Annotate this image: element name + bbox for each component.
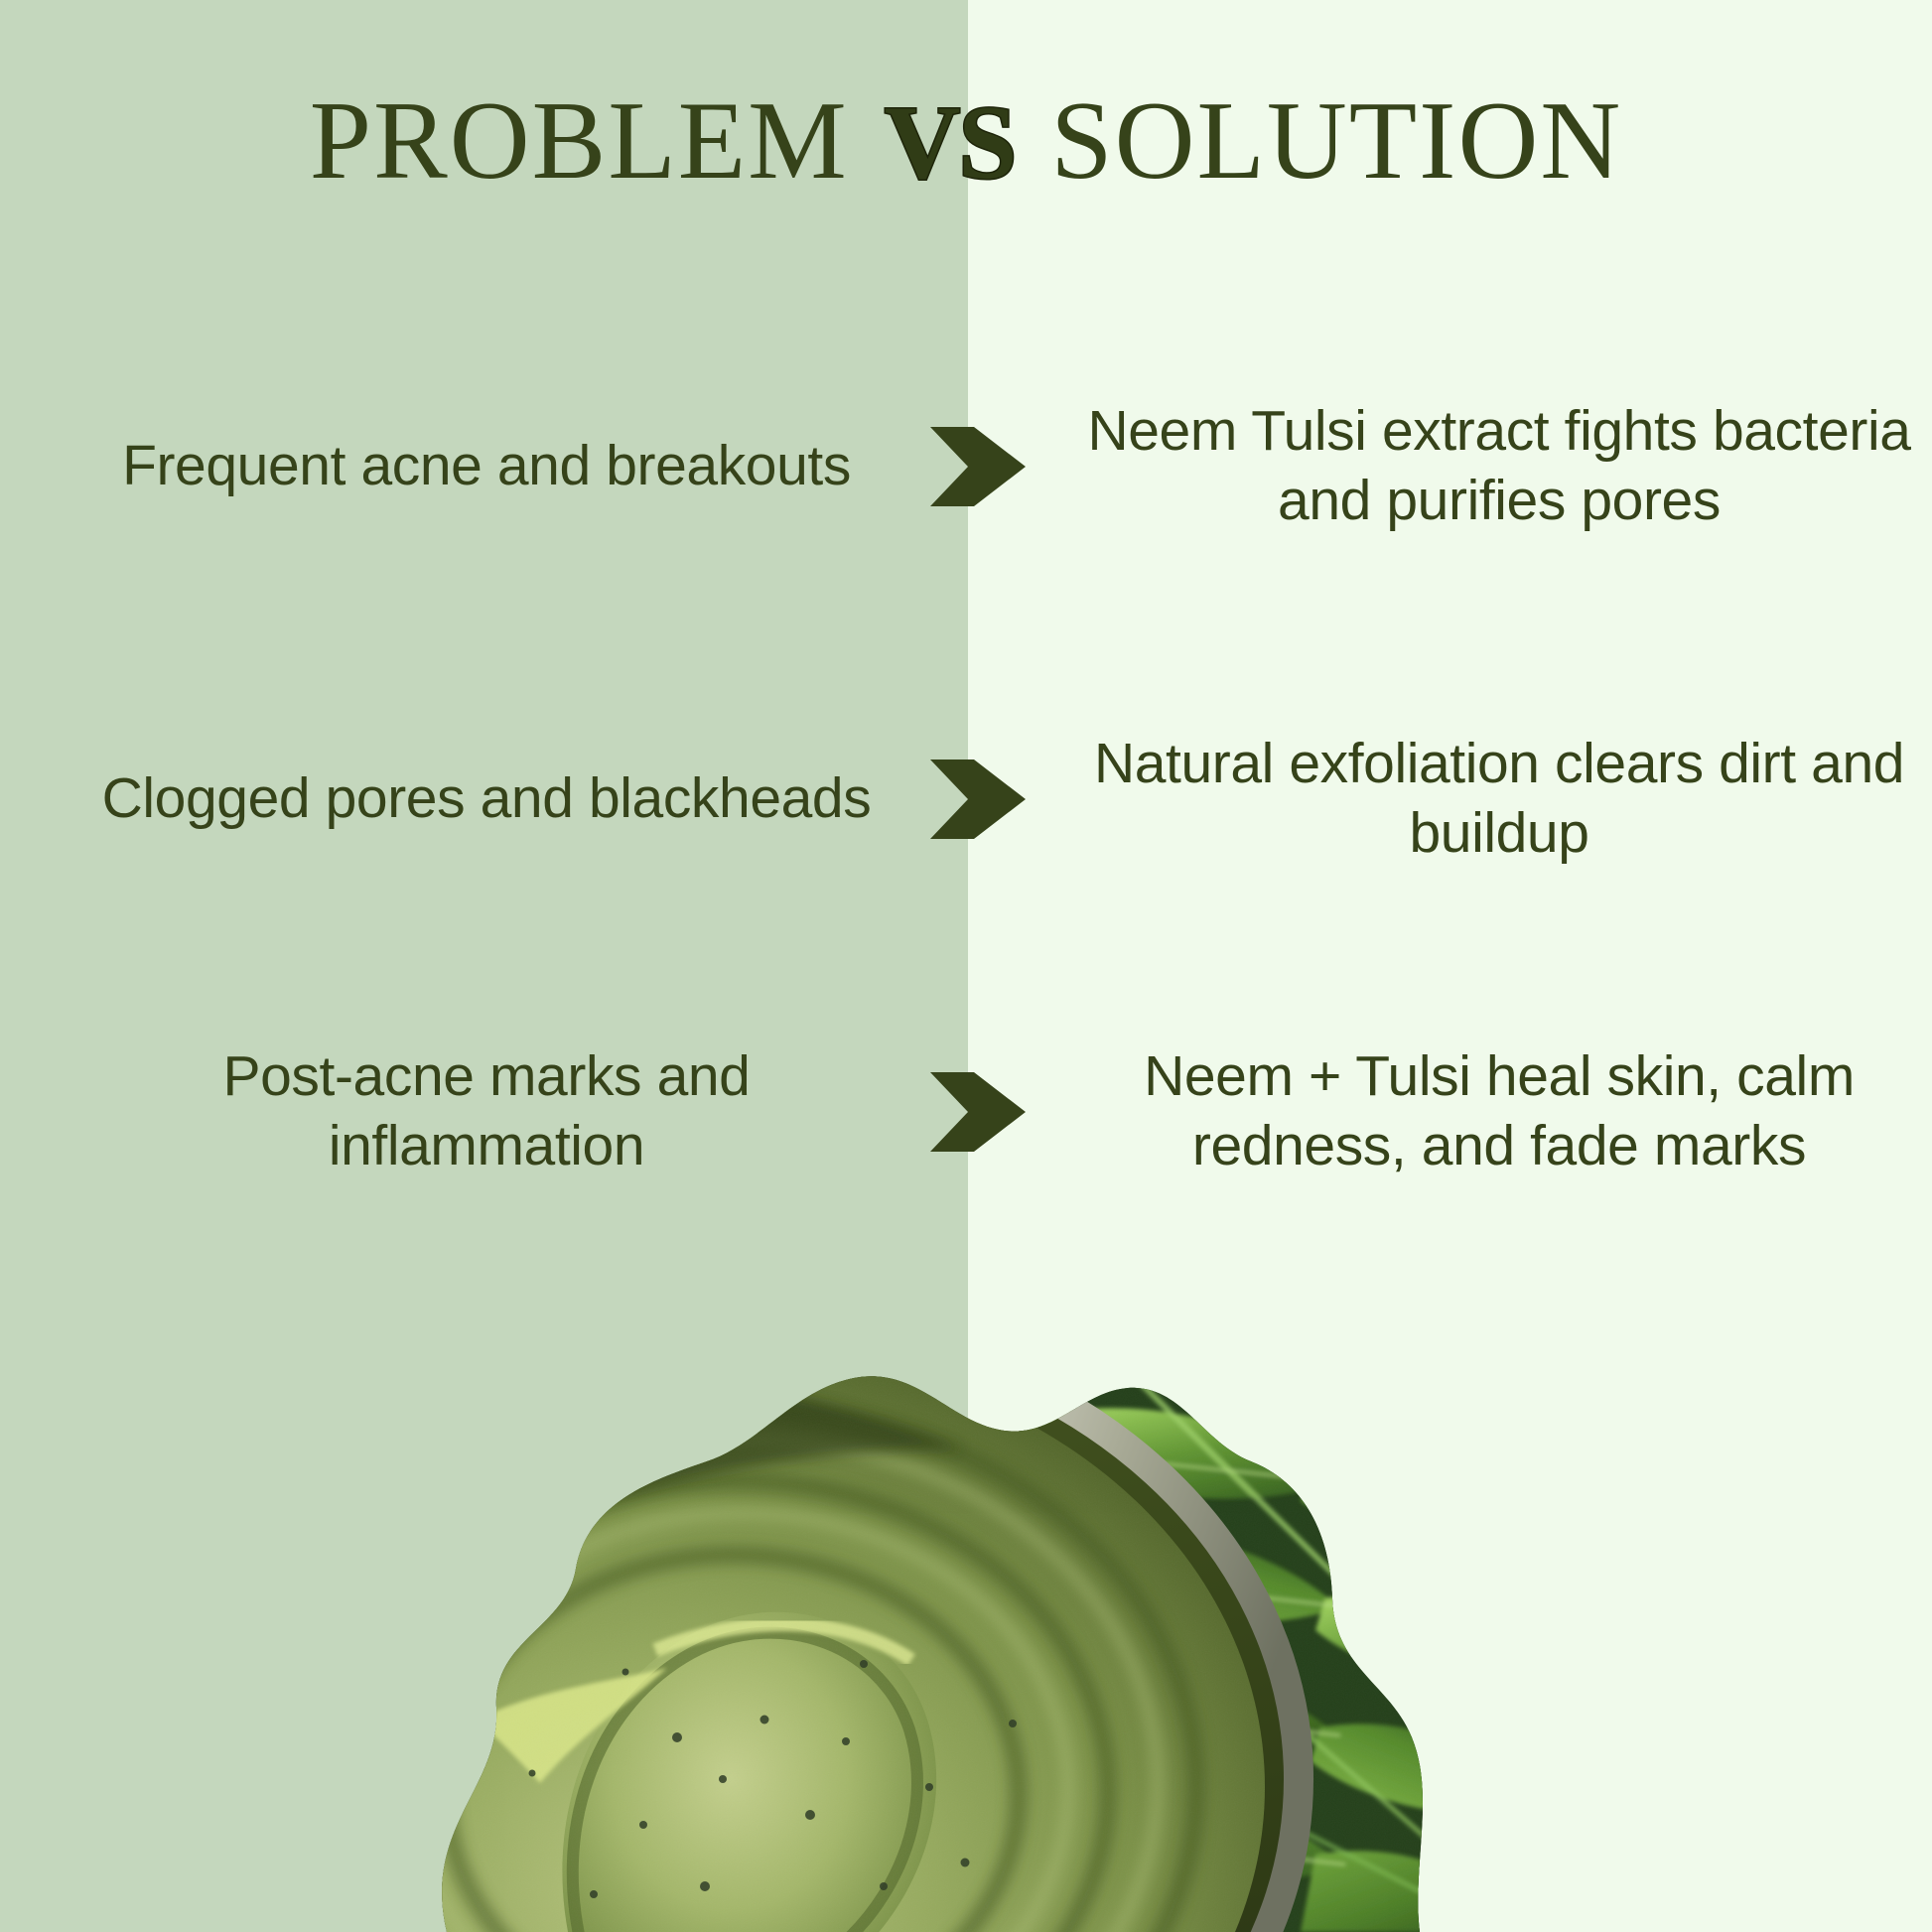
solution-text: Neem + Tulsi heal skin, calm redness, an… (1072, 1042, 1926, 1180)
problem-text: Post-acne marks and inflammation (60, 1042, 913, 1180)
page-title: PROBLEM VS SOLUTION (0, 83, 1932, 201)
title-word-vs: VS (879, 84, 1022, 201)
problem-text: Clogged pores and blackheads (60, 764, 913, 834)
chevron-right-icon (930, 758, 1026, 841)
comparison-row: Frequent acne and breakouts Neem Tulsi e… (0, 397, 1932, 535)
comparison-list: Frequent acne and breakouts Neem Tulsi e… (0, 0, 1932, 1932)
title-word-solution: SOLUTION (1050, 79, 1622, 203)
row-arrow (913, 758, 1042, 841)
row-arrow (913, 1070, 1042, 1154)
solution-text: Natural exfoliation clears dirt and buil… (1072, 730, 1926, 868)
chevron-right-icon (930, 425, 1026, 508)
poster: PROBLEM VS SOLUTION Frequent acne and br… (0, 0, 1932, 1932)
chevron-right-icon (930, 1070, 1026, 1154)
title-word-problem: PROBLEM (310, 79, 849, 203)
comparison-row: Post-acne marks and inflammation Neem + … (0, 1042, 1932, 1180)
solution-text: Neem Tulsi extract fights bacteria and p… (1072, 397, 1926, 535)
comparison-row: Clogged pores and blackheads Natural exf… (0, 730, 1932, 868)
row-arrow (913, 425, 1042, 508)
problem-text: Frequent acne and breakouts (60, 432, 913, 501)
